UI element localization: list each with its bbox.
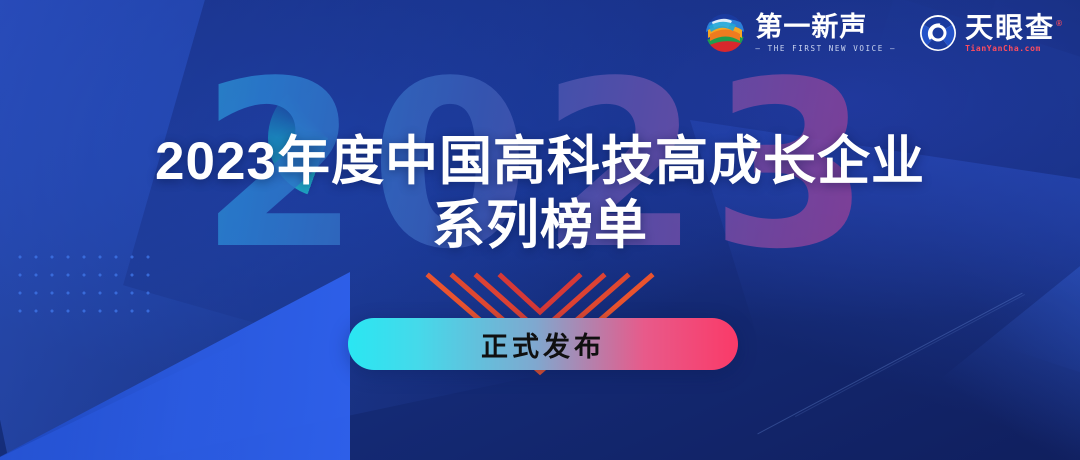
background-triangle-bottom-left-inner (0, 342, 240, 460)
globe-swirl-icon (702, 12, 748, 54)
promotional-banner: 2023 (0, 0, 1080, 460)
logo-bar: 第一新声 — THE FIRST NEW VOICE — 天眼查® TianYa… (702, 12, 1064, 54)
trademark-symbol: ® (1056, 19, 1064, 28)
logo-diyixinsheng[interactable]: 第一新声 — THE FIRST NEW VOICE — (702, 12, 896, 54)
logo-tianyancha[interactable]: 天眼查® TianYanCha.com (918, 13, 1064, 53)
hairline-accent-one (757, 293, 1022, 435)
logo-diyixinsheng-tagline: — THE FIRST NEW VOICE — (755, 45, 896, 53)
logo-tianyancha-name-wrap: 天眼查® (965, 14, 1064, 42)
logo-tianyancha-tagline: TianYanCha.com (965, 45, 1064, 53)
hairline-accent-two (795, 294, 1025, 417)
release-status-label: 正式发布 (481, 325, 605, 364)
title-line-2: 系列榜单 (0, 196, 1080, 255)
logo-diyixinsheng-name: 第一新声 (755, 14, 896, 41)
background-triangle-bottom-left (0, 272, 350, 460)
release-status-badge[interactable]: 正式发布 (348, 318, 738, 370)
aperture-lens-icon (918, 13, 958, 53)
title-line-1: 2023年度中国高科技高成长企业 (0, 134, 1080, 190)
page-title: 2023年度中国高科技高成长企业 系列榜单 (0, 134, 1080, 256)
logo-tianyancha-name: 天眼查 (965, 12, 1055, 43)
